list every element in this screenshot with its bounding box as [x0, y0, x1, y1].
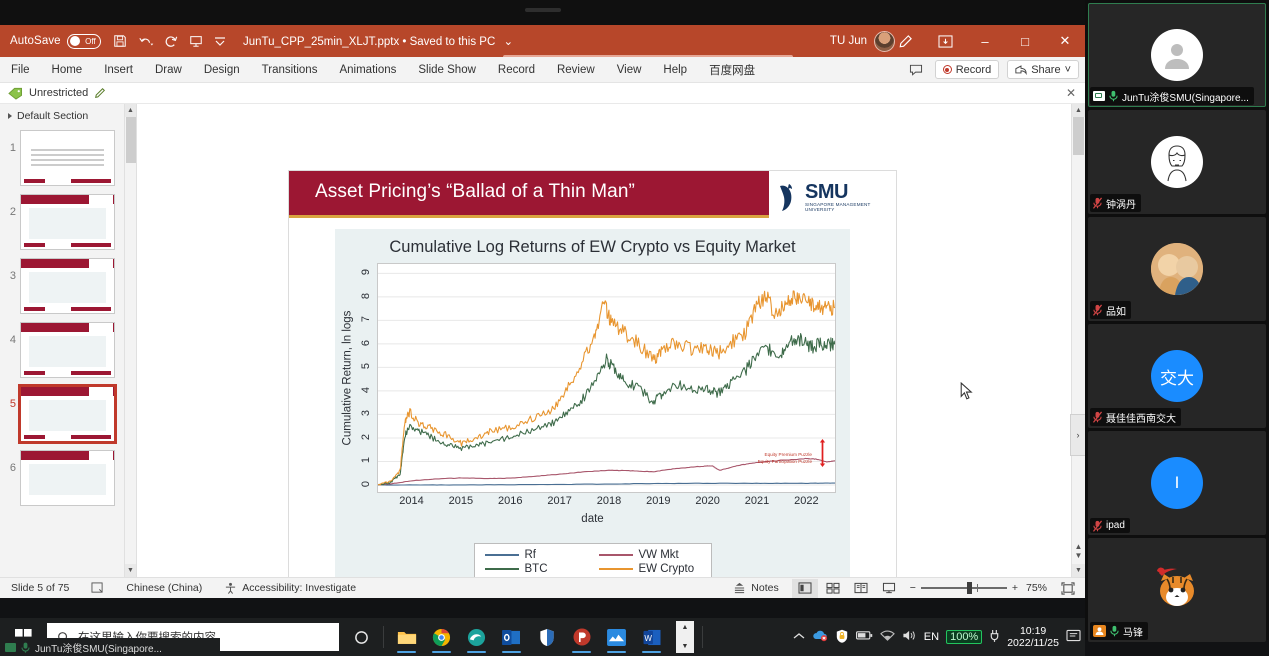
participant-name-badge: 钟涡丹: [1090, 194, 1141, 212]
app-running-indicator: [572, 651, 591, 653]
legend-label: Rf: [525, 549, 537, 561]
avatar: [1151, 29, 1203, 81]
smu-sub2: UNIVERSITY: [805, 208, 871, 213]
y-tick-label: 9: [360, 269, 372, 275]
autosave-state: Off: [85, 37, 96, 46]
language-status[interactable]: Chinese (China): [115, 582, 213, 594]
participant-name: 钟涡丹: [1106, 196, 1136, 211]
x-tick-label: 2021: [745, 495, 769, 507]
zoom-out-button[interactable]: −: [910, 582, 916, 594]
taskbar-app-chrome[interactable]: [425, 618, 458, 656]
chart-y-ticks: 0123456789: [355, 263, 371, 493]
avatar-initials: 交大: [1160, 364, 1194, 389]
zoom-in-button[interactable]: +: [1012, 582, 1018, 594]
edit-sensitivity-icon[interactable]: [94, 87, 106, 99]
microphone-muted-icon: [1093, 411, 1102, 423]
chart-title: Cumulative Log Returns of EW Crypto vs E…: [335, 229, 850, 257]
x-tick-label: 2020: [695, 495, 719, 507]
thumbnail-logo: [89, 323, 113, 333]
avatar: I: [1151, 457, 1203, 509]
autosave-toggle[interactable]: Off: [67, 34, 101, 49]
video-participant-panel[interactable]: JunTu涂俊SMU(Singapore... 钟涡丹: [1085, 0, 1269, 640]
thumbnail-preview[interactable]: [20, 322, 115, 378]
notification-center-icon[interactable]: [1066, 629, 1081, 645]
overflow-down-icon[interactable]: ▼: [682, 643, 689, 650]
legend-item-vwmkt: VW Mkt: [599, 549, 701, 561]
avatar: [1148, 567, 1206, 613]
legend-label: EW Crypto: [639, 563, 695, 575]
save-icon[interactable]: [113, 34, 127, 48]
minimize-button[interactable]: –: [965, 25, 1005, 57]
tray-onedrive-icon[interactable]: [812, 629, 828, 645]
participant-name: 马锋: [1123, 624, 1143, 639]
annotation-equity-participation: Equity Participation Puzzle: [758, 459, 812, 466]
tab-view[interactable]: View: [606, 57, 653, 83]
thumbnail-preview[interactable]: [20, 194, 115, 250]
microphone-icon: [1109, 90, 1118, 102]
app-running-indicator: [467, 651, 486, 653]
tab-file[interactable]: File: [0, 57, 41, 83]
smu-wordmark: SMU SINGAPORE MANAGEMENT UNIVERSITY: [805, 182, 871, 213]
clock-time: 10:19: [1007, 625, 1059, 637]
thumbnail-footer-gap: [45, 435, 71, 439]
thumbnail-footer-gap: [45, 243, 71, 247]
zoom-level: 75%: [1023, 582, 1047, 594]
thumbnail-number: 1: [4, 130, 16, 154]
tab-help[interactable]: Help: [652, 57, 698, 83]
participant-name: 品如: [1106, 303, 1126, 318]
taskbar-app-list: W: [384, 618, 668, 656]
work-area: Default Section 1 2: [0, 104, 1085, 577]
legend-swatch: [485, 568, 519, 570]
thumbnail-item-1[interactable]: 1: [0, 126, 136, 190]
section-collapse-icon[interactable]: [8, 113, 12, 119]
x-tick-label: 2017: [547, 495, 571, 507]
cortana-icon: [354, 630, 369, 645]
accessibility-label: Accessibility: Investigate: [242, 582, 356, 594]
legend-item-btc: BTC: [485, 563, 587, 575]
y-tick-label: 1: [360, 457, 372, 463]
app-running-indicator: [397, 651, 416, 653]
zoom-knob[interactable]: [967, 582, 972, 594]
participant-name: ipad: [1106, 520, 1125, 531]
powerpoint-window: AutoSave Off: [0, 25, 1085, 598]
slide-sorter-icon: [826, 582, 840, 594]
stage-fit-icons[interactable]: ▲▼: [1072, 543, 1085, 561]
record-dot-icon: [943, 65, 952, 74]
app-running-indicator: [642, 651, 661, 653]
current-slide[interactable]: Asset Pricing’s “Ballad of a Thin Man” S…: [288, 170, 897, 577]
screen-share-icon: [5, 643, 16, 652]
top-black-strip: [0, 0, 1085, 25]
chart-y-axis-label: Cumulative Return, ln logs: [339, 263, 355, 493]
app-running-indicator: [607, 651, 626, 653]
pen-tools-icon[interactable]: [885, 25, 925, 57]
clock-date: 2022/11/25: [1007, 637, 1059, 649]
tab-draw[interactable]: Draw: [144, 57, 193, 83]
taskbar-divider-2: [702, 626, 703, 648]
y-tick-label: 8: [360, 293, 372, 299]
thumbnail-footer-gap: [45, 307, 71, 311]
fit-window-icon: [1061, 582, 1075, 595]
customize-qat-icon[interactable]: [214, 35, 226, 47]
app-running-indicator: [432, 651, 451, 653]
reading-view-icon: [854, 582, 868, 594]
close-sensitivity-bar-icon[interactable]: ✕: [1066, 86, 1076, 100]
taskbar-app-edge-legacy[interactable]: [460, 618, 493, 656]
zoom-app-taskbar-entry[interactable]: JunTu涂俊SMU(Singapore...: [0, 638, 220, 656]
taskbar-clock[interactable]: 10:19 2022/11/25: [1007, 625, 1059, 649]
thumbnail-logo: [89, 451, 113, 461]
stage-scrollbar[interactable]: ▲ ▲▼ ▼: [1071, 104, 1085, 577]
record-label: Record: [956, 64, 991, 76]
participant-name: JunTu涂俊SMU(Singapore...: [1122, 89, 1249, 104]
stage-scroll-up-icon[interactable]: ▲: [1072, 104, 1085, 117]
sensitivity-label: Unrestricted: [29, 87, 88, 99]
taskbar-overflow-scroller[interactable]: ▲ ▼: [676, 621, 694, 653]
tab-home[interactable]: Home: [41, 57, 94, 83]
legend-item-rf: Rf: [485, 549, 587, 561]
zoom-default-tick: [977, 584, 978, 592]
legend-label: BTC: [525, 563, 548, 575]
participant-tile[interactable]: 钟涡丹: [1088, 110, 1266, 214]
thumbnail-preview[interactable]: [20, 258, 115, 314]
title-chevron-icon[interactable]: ⌄: [503, 36, 513, 48]
participant-name-badge: 品如: [1090, 301, 1131, 319]
tab-design[interactable]: Design: [193, 57, 251, 83]
slideshow-icon: [882, 582, 896, 594]
smu-logo: SMU SINGAPORE MANAGEMENT UNIVERSITY: [769, 171, 896, 224]
thumbnail-chart: [29, 272, 106, 303]
legend-swatch: [485, 554, 519, 556]
status-bar-right: Notes −: [722, 579, 1081, 598]
y-tick-label: 0: [360, 481, 372, 487]
notes-icon: [733, 582, 746, 594]
taskbar-app-file-explorer[interactable]: [390, 618, 423, 656]
avatar: [1151, 136, 1203, 188]
thumbnail-number: 6: [4, 450, 16, 474]
microphone-icon: [21, 642, 30, 653]
chart-x-ticks: 201420152016201720182019202020212022: [377, 495, 836, 511]
scroll-down-icon[interactable]: ▼: [125, 564, 136, 577]
sensitivity-tag-icon: [8, 87, 23, 100]
record-button[interactable]: Record: [935, 60, 999, 79]
participant-name-badge: JunTu涂俊SMU(Singapore...: [1090, 87, 1254, 105]
y-tick-label: 4: [360, 387, 372, 393]
taskbar-app-defender[interactable]: [530, 618, 563, 656]
x-tick-label: 2022: [794, 495, 818, 507]
thumbnail-chart: [29, 208, 106, 239]
participant-tile[interactable]: I ipad: [1088, 431, 1266, 535]
spellcheck-status[interactable]: [80, 582, 115, 594]
thumbnail-chart: [29, 464, 106, 495]
zoom-window-title: JunTu涂俊SMU(Singapore...: [35, 640, 162, 655]
x-tick-label: 2018: [597, 495, 621, 507]
autosave-label: AutoSave: [10, 35, 61, 47]
legend-swatch: [599, 554, 633, 556]
chart-x-axis-label: date: [335, 513, 850, 525]
legend-item-ewcrypto: EW Crypto: [599, 563, 701, 575]
close-button[interactable]: ✕: [1045, 25, 1085, 57]
legend-swatch: [599, 568, 633, 570]
thumbnail-logo: [89, 259, 113, 269]
tray-defender-icon[interactable]: [835, 629, 849, 646]
thumbnail-number: 2: [4, 194, 16, 218]
participant-tile[interactable]: 品如: [1088, 217, 1266, 321]
participant-tile[interactable]: 马锋: [1088, 538, 1266, 642]
window-drag-handle[interactable]: [525, 8, 561, 12]
mouse-cursor-icon: [960, 382, 973, 400]
thumbnail-preview[interactable]: [20, 130, 115, 186]
window-controls: – □ ✕: [885, 25, 1085, 57]
comments-icon[interactable]: [905, 61, 927, 79]
view-normal-button[interactable]: [792, 579, 818, 598]
chart-canvas: Equity Premium Puzzle Equity Participati…: [377, 263, 836, 493]
tray-expand-icon[interactable]: [793, 632, 805, 643]
share-label: Share: [1031, 64, 1060, 76]
photo-avatar-icon: [1151, 243, 1203, 295]
stage-scrollbar-thumb[interactable]: [1073, 117, 1084, 155]
thumbnail-preview-selected[interactable]: [20, 386, 115, 442]
ribbon-right-group: Record Share ˅: [905, 60, 1079, 79]
taskbar-app-blue[interactable]: [600, 618, 633, 656]
thumbnail-scrollbar[interactable]: ▲ ▼: [124, 104, 136, 577]
accessibility-icon: [224, 582, 237, 594]
autosave-control[interactable]: AutoSave Off: [10, 34, 101, 49]
avatar: 交大: [1151, 350, 1203, 402]
view-slide-sorter-button[interactable]: [820, 579, 846, 598]
thumbnail-item-5[interactable]: 5: [0, 382, 136, 446]
scrollbar-thumb[interactable]: [126, 117, 136, 163]
slide-editing-stage[interactable]: Asset Pricing’s “Ballad of a Thin Man” S…: [137, 104, 1085, 577]
thumbnail-item-3[interactable]: 3: [0, 254, 136, 318]
x-tick-label: 2019: [646, 495, 670, 507]
tray-volume-icon[interactable]: [902, 629, 917, 645]
avatar-initials: I: [1175, 473, 1180, 493]
taskbar-app-word[interactable]: W: [635, 618, 668, 656]
spellcheck-icon: [91, 582, 104, 594]
ribbon-tabs: File Home Insert Draw Design Transitions…: [0, 57, 1085, 83]
fit-slide-to-window-button[interactable]: [1055, 579, 1081, 598]
participant-tile[interactable]: JunTu涂俊SMU(Singapore...: [1088, 3, 1266, 107]
avatar: [1151, 243, 1203, 295]
overflow-up-icon[interactable]: ▲: [682, 624, 689, 631]
power-plug-icon: [989, 629, 1000, 645]
tray-battery-icon[interactable]: [856, 630, 873, 644]
slide-thumbnail-pane[interactable]: Default Section 1 2: [0, 104, 137, 577]
thumbnail-logo: [89, 195, 113, 205]
document-title-text: JunTu_CPP_25min_XLJT.pptx • Saved to thi…: [243, 36, 495, 48]
thumbnail-footer-gap: [45, 179, 71, 183]
panel-expand-button[interactable]: ›: [1070, 414, 1085, 456]
y-tick-label: 6: [360, 340, 372, 346]
start-presentation-icon[interactable]: [189, 34, 203, 48]
maximize-button[interactable]: □: [1005, 25, 1045, 57]
microphone-muted-icon: [1093, 197, 1102, 209]
screen: AutoSave Off: [0, 0, 1269, 656]
smu-name: SMU: [805, 182, 871, 203]
share-icon: [1015, 64, 1027, 75]
screen-share-icon: [1093, 91, 1105, 101]
ime-indicator[interactable]: EN: [924, 631, 939, 643]
y-tick-label: 5: [360, 363, 372, 369]
y-tick-label: 2: [360, 434, 372, 440]
accessibility-status[interactable]: Accessibility: Investigate: [213, 582, 367, 594]
tray-wifi-icon[interactable]: [880, 630, 895, 645]
cortana-button[interactable]: [339, 630, 383, 645]
share-button[interactable]: Share ˅: [1007, 60, 1079, 79]
notes-button[interactable]: Notes: [722, 582, 789, 594]
microphone-icon: [1110, 625, 1119, 637]
chart-container[interactable]: Cumulative Log Returns of EW Crypto vs E…: [335, 229, 850, 577]
participant-name-badge: ipad: [1090, 518, 1130, 533]
view-reading-button[interactable]: [848, 579, 874, 598]
status-bar: Slide 5 of 75 Chinese (China) Accessibil…: [0, 577, 1085, 598]
participant-name-badge: 马锋: [1090, 622, 1148, 640]
redo-icon[interactable]: [165, 34, 178, 48]
section-label: Default Section: [17, 110, 88, 122]
quick-access-toolbar: [113, 34, 226, 48]
zoom-slider[interactable]: − + 75%: [904, 582, 1053, 594]
thumbnail-logo: [89, 387, 113, 397]
tab-baidu-netdisk[interactable]: 百度网盘: [698, 57, 766, 83]
tab-transitions[interactable]: Transitions: [251, 57, 329, 83]
zoom-track[interactable]: [921, 587, 1007, 589]
tab-review[interactable]: Review: [546, 57, 606, 83]
share-caret-icon[interactable]: ˅: [1065, 64, 1071, 76]
chart-annotations: Equity Premium Puzzle Equity Participati…: [758, 452, 821, 466]
thumbnail-preview[interactable]: [20, 450, 115, 506]
participant-name: 聂佳佳西南交大: [1106, 410, 1176, 425]
title-bar: AutoSave Off: [0, 25, 1085, 57]
thumbnail-number: 4: [4, 322, 16, 346]
thumbnail-item-6[interactable]: 6: [0, 446, 136, 510]
tiger-avatar-icon: [1149, 567, 1205, 613]
account-name: TU Jun: [830, 35, 867, 47]
view-slideshow-button[interactable]: [876, 579, 902, 598]
thumbnail-number: 3: [4, 258, 16, 282]
line-art-avatar-icon: [1156, 141, 1198, 183]
slide-counter[interactable]: Slide 5 of 75: [0, 582, 80, 594]
stage-scroll-down-icon[interactable]: ▼: [1072, 564, 1085, 577]
thumbnail-item-4[interactable]: 4: [0, 318, 136, 382]
system-tray: EN 100% 10:19 2022/11/25: [793, 625, 1081, 649]
slide-title[interactable]: Asset Pricing’s “Ballad of a Thin Man”: [315, 181, 635, 203]
thumbnail-chart: [29, 400, 106, 431]
toggle-knob: [70, 36, 80, 46]
chart-plot-area: Cumulative Return, ln logs 0123456789 Eq…: [335, 263, 850, 529]
tab-record[interactable]: Record: [487, 57, 546, 83]
normal-view-icon: [798, 582, 812, 594]
y-tick-label: 3: [360, 410, 372, 416]
microphone-muted-icon: [1093, 304, 1102, 316]
tab-slide-show[interactable]: Slide Show: [407, 57, 487, 83]
tab-insert[interactable]: Insert: [93, 57, 144, 83]
ribbon-display-options-icon[interactable]: [925, 25, 965, 57]
scroll-up-icon[interactable]: ▲: [125, 104, 136, 117]
x-tick-label: 2016: [498, 495, 522, 507]
annotation-arrow-icon: [819, 438, 826, 468]
notes-label: Notes: [751, 582, 778, 594]
chart-legend: Rf VW Mkt BTC: [474, 543, 712, 577]
legend-label: VW Mkt: [639, 549, 679, 561]
annotation-equity-premium: Equity Premium Puzzle: [758, 452, 812, 459]
app-running-indicator: [502, 651, 521, 653]
thumbnail-item-2[interactable]: 2: [0, 190, 136, 254]
thumbnail-number: 5: [4, 386, 16, 410]
person-silhouette-icon: [1160, 38, 1194, 72]
taskbar-app-powerpoint[interactable]: [565, 618, 598, 656]
tab-animations[interactable]: Animations: [328, 57, 407, 83]
svg-text:W: W: [644, 633, 652, 642]
x-tick-label: 2014: [399, 495, 423, 507]
participant-tile[interactable]: 交大 聂佳佳西南交大: [1088, 324, 1266, 428]
x-tick-label: 2015: [449, 495, 473, 507]
battery-percentage[interactable]: 100%: [946, 630, 982, 644]
participant-name-badge: 聂佳佳西南交大: [1090, 408, 1181, 426]
sensitivity-bar: Unrestricted ✕: [0, 83, 1085, 104]
document-title[interactable]: JunTu_CPP_25min_XLJT.pptx • Saved to thi…: [243, 34, 513, 48]
y-axis-label-text: Cumulative Return, ln logs: [341, 311, 353, 446]
smu-lion-icon: [777, 183, 801, 213]
y-tick-label: 7: [360, 316, 372, 322]
undo-icon[interactable]: [138, 34, 154, 48]
microphone-muted-icon: [1093, 520, 1102, 532]
thumbnail-footer-gap: [45, 371, 71, 375]
thumbnail-chart: [29, 336, 106, 367]
host-icon: [1093, 625, 1106, 637]
section-header[interactable]: Default Section: [0, 104, 136, 126]
thumbnail-content-lines: [31, 149, 104, 169]
taskbar-app-outlook[interactable]: [495, 618, 528, 656]
